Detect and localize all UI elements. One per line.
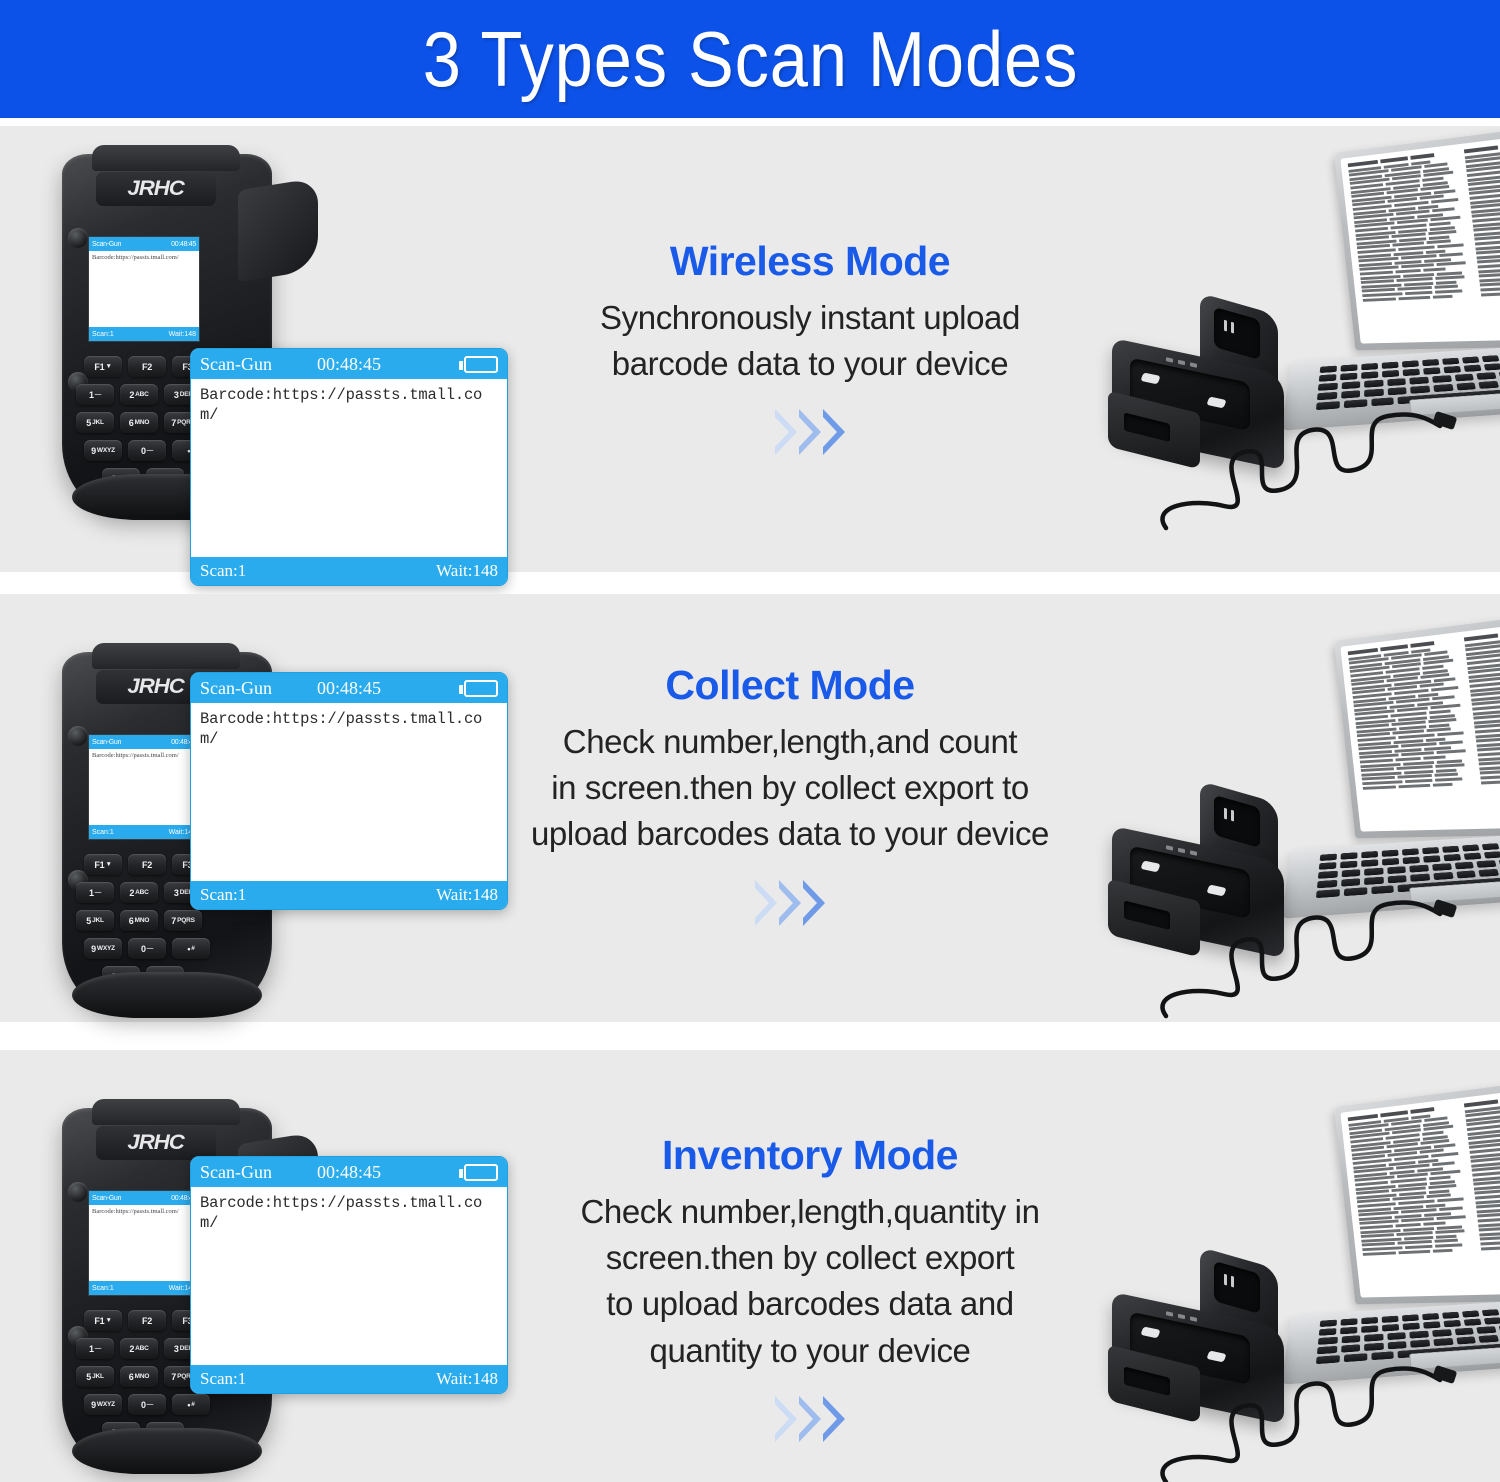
keyboard-key[interactable] <box>1382 850 1399 857</box>
key-sub: # <box>191 1401 194 1408</box>
keypad-row: 9WXYZ0—•# <box>76 1394 262 1415</box>
keyboard-key[interactable] <box>1364 877 1383 885</box>
key-sub: PQRS <box>177 917 195 924</box>
spreadsheet-cell <box>1405 1245 1432 1249</box>
spreadsheet-cell <box>1398 295 1430 299</box>
keyboard-key[interactable] <box>1454 1328 1474 1336</box>
keyboard-key[interactable] <box>1316 889 1340 898</box>
keyboard-key[interactable] <box>1479 869 1499 877</box>
keyboard-key[interactable] <box>1433 872 1453 880</box>
key-main: 0 <box>141 944 146 954</box>
charging-cradle <box>1108 792 1298 962</box>
battery-indicator <box>464 1164 498 1181</box>
infographic-page: 3 Types Scan Modes JRHCScan-Gun00:48:45B… <box>0 0 1500 1482</box>
spreadsheet-cell <box>1434 773 1459 777</box>
key-0[interactable]: 0— <box>128 938 166 959</box>
keyboard-key[interactable] <box>1433 384 1453 392</box>
keyboard-key[interactable] <box>1464 1319 1482 1326</box>
key-main: 3 <box>174 1344 179 1354</box>
spreadsheet-header-row <box>1464 135 1500 153</box>
device-dock-and-laptop-scene <box>1080 1090 1500 1482</box>
key-main: • <box>187 1400 190 1410</box>
spreadsheet-column <box>1348 151 1474 338</box>
keyboard-key[interactable] <box>1344 1353 1367 1362</box>
spreadsheet-cell <box>1423 267 1445 271</box>
chevron-right-icon <box>775 1396 797 1442</box>
spreadsheet-cell <box>1480 282 1500 287</box>
keyboard-key[interactable] <box>1411 1339 1431 1347</box>
spreadsheet-cell <box>1398 1249 1430 1253</box>
chevron-right-icon <box>775 409 797 455</box>
keyboard-key[interactable] <box>1482 843 1500 850</box>
key-1[interactable]: 1— <box>76 882 114 903</box>
keyboard-key[interactable] <box>1382 1316 1399 1323</box>
key-1[interactable]: 1— <box>76 384 114 405</box>
key-f1[interactable]: F1▼ <box>84 1310 122 1331</box>
keyboard-key[interactable] <box>1340 1327 1357 1335</box>
key-2abc[interactable]: 2ABC <box>120 882 158 903</box>
header-banner: 3 Types Scan Modes <box>0 0 1500 118</box>
key-main: F1 <box>94 1316 104 1326</box>
keyboard-key[interactable] <box>1402 360 1419 367</box>
keyboard-key[interactable] <box>1462 844 1480 851</box>
keyboard-key[interactable] <box>1341 869 1360 877</box>
keyboard-key[interactable] <box>1432 863 1452 871</box>
mini-barcode-text: Barcode:https://passts.tmall.com/ <box>89 749 199 825</box>
spreadsheet-cell <box>1480 770 1500 775</box>
keyboard-key[interactable] <box>1402 848 1419 855</box>
mini-screen-titlebar: Scan-Gun00:48:45 <box>89 735 199 749</box>
keyboard-key[interactable] <box>1456 1336 1476 1344</box>
keyboard-key[interactable] <box>1319 1328 1337 1336</box>
lcd-barcode-text: Barcode:https://passts.tmall.com/ <box>191 703 507 881</box>
keyboard-key[interactable] <box>1318 871 1338 879</box>
spreadsheet-cell <box>1433 782 1453 786</box>
keyboard-key[interactable] <box>1484 851 1500 858</box>
keyboard-key[interactable] <box>1477 860 1497 868</box>
spreadsheet-cell <box>1476 742 1500 747</box>
key-main: 2 <box>129 390 134 400</box>
device-dock-and-laptop-scene <box>1080 136 1500 536</box>
keyboard-key[interactable] <box>1344 887 1367 896</box>
lcd-barcode-text: Barcode:https://passts.tmall.com/ <box>191 379 507 557</box>
keyboard-key[interactable] <box>1402 1314 1419 1321</box>
keyboard-key[interactable] <box>1422 1313 1439 1320</box>
keyboard-key[interactable] <box>1456 870 1476 878</box>
keyboard-key[interactable] <box>1388 1341 1408 1349</box>
keyboard-key[interactable] <box>1388 875 1408 883</box>
key-7pqrs[interactable]: 7PQRS <box>164 910 202 931</box>
laptop <box>1290 624 1500 924</box>
keypad-row: 5JKL6MNO7PQRS <box>76 910 262 931</box>
key-main: 2 <box>129 1344 134 1354</box>
keyboard-key[interactable] <box>1442 358 1459 365</box>
spreadsheet-cell <box>1433 294 1453 298</box>
keyboard-key[interactable] <box>1340 861 1357 869</box>
key-5jkl[interactable]: 5JKL <box>76 1366 114 1387</box>
spreadsheet-cell <box>1433 1248 1453 1252</box>
keyboard-key[interactable] <box>1422 359 1439 366</box>
key-main: 7 <box>171 1372 176 1382</box>
spreadsheet-cell <box>1434 777 1462 781</box>
chevron-right-icon <box>799 1396 821 1442</box>
keyboard-key[interactable] <box>1317 1346 1337 1354</box>
keyboard-key[interactable] <box>1382 362 1399 369</box>
keyboard-key[interactable] <box>1361 859 1378 867</box>
keyboard-key[interactable] <box>1364 389 1383 397</box>
mode-section-collect: JRHCScan-Gun00:48:45Barcode:https://pass… <box>0 594 1500 1022</box>
keyboard-key[interactable] <box>1443 1320 1461 1327</box>
key-sub: — <box>147 1401 153 1408</box>
keyboard-key[interactable] <box>1462 1310 1480 1317</box>
spreadsheet-cell <box>1426 737 1446 741</box>
keyboard-key[interactable] <box>1388 387 1408 395</box>
key-main: 5 <box>86 418 91 428</box>
keyboard-key[interactable] <box>1364 380 1383 388</box>
keyboard-key[interactable] <box>1341 1318 1358 1325</box>
keyboard-key[interactable] <box>1340 373 1357 381</box>
spreadsheet-cell <box>1480 774 1500 779</box>
keyboard-key[interactable] <box>1320 854 1337 861</box>
keyboard-key[interactable] <box>1364 868 1383 876</box>
key-sub: — <box>95 889 101 896</box>
cradle-slot <box>1214 307 1260 360</box>
keyboard-key[interactable] <box>1433 1338 1453 1346</box>
spreadsheet-cell <box>1363 1251 1396 1255</box>
spreadsheet-cell <box>1480 1240 1500 1245</box>
keyboard-key[interactable] <box>1319 374 1337 382</box>
key-main: F2 <box>142 1316 152 1326</box>
key-sub: WXYZ <box>97 945 115 952</box>
keyboard-key[interactable] <box>1403 1323 1420 1331</box>
keyboard-key[interactable] <box>1341 878 1361 886</box>
pin <box>1224 320 1227 332</box>
laptop-base <box>1280 340 1500 431</box>
keyboard-key[interactable] <box>1318 1337 1338 1345</box>
keyboard-key[interactable] <box>1482 1309 1500 1316</box>
keyboard-key[interactable] <box>1371 885 1394 894</box>
keyboard-key[interactable] <box>1423 367 1441 374</box>
keyboard-key[interactable] <box>1361 1317 1378 1324</box>
spreadsheet-header-cell <box>1410 1107 1434 1113</box>
keyboard-key[interactable] <box>1318 383 1338 391</box>
key-main: 5 <box>86 1372 91 1382</box>
key-sub: ABC <box>135 889 148 896</box>
led <box>1178 1314 1185 1319</box>
spreadsheet-cell <box>1426 1203 1446 1207</box>
spreadsheet-header-cell <box>1381 644 1408 651</box>
spreadsheet-cell <box>1479 761 1500 766</box>
keyboard-key[interactable] <box>1387 1332 1406 1340</box>
keyboard-key[interactable] <box>1361 371 1378 379</box>
keyboard-key[interactable] <box>1432 1329 1452 1337</box>
mode-description-line: Synchronously instant upload <box>500 295 1120 341</box>
keyboard-key[interactable] <box>1317 392 1337 400</box>
laptop <box>1290 1090 1500 1390</box>
cradle-front-notch <box>1124 413 1170 442</box>
key-[interactable]: •# <box>172 938 210 959</box>
key-9wxyz[interactable]: 9WXYZ <box>84 440 122 461</box>
keyboard-key[interactable] <box>1320 366 1337 373</box>
chevron-right-icon <box>823 1396 845 1442</box>
key-main: 1 <box>89 888 94 898</box>
keyboard-key[interactable] <box>1382 1324 1399 1332</box>
keyboard-key[interactable] <box>1341 381 1360 389</box>
spreadsheet-column <box>1348 1105 1474 1292</box>
led <box>1166 1311 1173 1316</box>
keyboard-key[interactable] <box>1387 378 1406 386</box>
spreadsheet-cell <box>1363 297 1396 301</box>
keyboard-key[interactable] <box>1443 854 1461 861</box>
mode-title-wireless: Wireless Mode <box>500 238 1120 285</box>
key-main: 2 <box>129 888 134 898</box>
key-1[interactable]: 1— <box>76 1338 114 1359</box>
mode-description-line: screen.then by collect export <box>500 1235 1120 1281</box>
mini-screen-footer: Scan:1Wait:148 <box>89 1281 199 1295</box>
keyboard-key[interactable] <box>1361 851 1378 858</box>
lcd-titlebar: Scan-Gun00:48:45 <box>191 1157 507 1187</box>
key-main: 6 <box>129 1372 134 1382</box>
spreadsheet-cell <box>1436 768 1457 772</box>
keyboard-key[interactable] <box>1479 1335 1499 1343</box>
keyboard-key[interactable] <box>1464 853 1482 860</box>
keyboard-key[interactable] <box>1361 363 1378 370</box>
key-[interactable]: •# <box>172 1394 210 1415</box>
keyboard-key[interactable] <box>1317 880 1337 888</box>
screw-icon <box>68 228 88 248</box>
led <box>1190 1316 1197 1321</box>
key-9wxyz[interactable]: 9WXYZ <box>84 938 122 959</box>
chevron-right-icon <box>799 409 821 455</box>
spreadsheet-cell <box>1481 779 1500 784</box>
key-f2[interactable]: F2 <box>128 1310 166 1331</box>
led <box>1190 850 1197 855</box>
mode-description-line: quantity to your device <box>500 1328 1120 1374</box>
keyboard-key[interactable] <box>1316 1355 1340 1364</box>
led <box>1178 848 1185 853</box>
pin <box>1231 810 1234 822</box>
keyboard-key[interactable] <box>1316 401 1340 410</box>
lcd-scan-count: Scan:1 <box>200 885 246 905</box>
keyboard-key[interactable] <box>1432 375 1452 383</box>
key-main: 9 <box>91 1400 96 1410</box>
mode-text-block: Inventory ModeCheck number,length,quanti… <box>500 1132 1120 1442</box>
mode-title-inventory: Inventory Mode <box>500 1132 1120 1179</box>
scanner-top-notch <box>92 643 240 669</box>
mode-text-block: Wireless ModeSynchronously instant uploa… <box>500 238 1120 455</box>
key-5jkl[interactable]: 5JKL <box>76 412 114 433</box>
keyboard-key[interactable] <box>1344 399 1367 408</box>
keyboard-key[interactable] <box>1410 865 1429 873</box>
spreadsheet-cell <box>1479 1227 1500 1232</box>
keyboard-key[interactable] <box>1411 873 1431 881</box>
keyboard-key[interactable] <box>1454 862 1474 870</box>
spreadsheet-cell <box>1405 291 1432 295</box>
key-sub: ABC <box>135 1345 148 1352</box>
keyboard-key[interactable] <box>1361 1325 1378 1333</box>
keyboard-key[interactable] <box>1456 382 1476 390</box>
keyboard-key[interactable] <box>1422 847 1439 854</box>
spreadsheet-header-cell <box>1381 1110 1408 1117</box>
keyboard-key[interactable] <box>1319 862 1337 870</box>
laptop-base <box>1280 1294 1500 1385</box>
lcd-titlebar: Scan-Gun00:48:45 <box>191 673 507 703</box>
spreadsheet-cell <box>1479 765 1500 770</box>
spreadsheet-column <box>1348 639 1474 826</box>
brand-logo-jrhc: JRHC <box>128 177 184 201</box>
spreadsheet-cell <box>1480 286 1500 291</box>
keyboard-key[interactable] <box>1364 1334 1383 1342</box>
key-0[interactable]: 0— <box>128 1394 166 1415</box>
keyboard-key[interactable] <box>1410 1331 1429 1339</box>
charging-cradle <box>1108 1258 1298 1428</box>
spreadsheet-header-row <box>1464 623 1500 641</box>
key-main: 7 <box>171 418 176 428</box>
spreadsheet-header-row <box>1464 1089 1500 1107</box>
spreadsheet-cell <box>1423 755 1445 759</box>
key-main: 1 <box>89 390 94 400</box>
laptop-lid <box>1334 120 1500 351</box>
key-sub: WXYZ <box>97 447 115 454</box>
keyboard-key[interactable] <box>1442 1312 1459 1319</box>
led <box>1166 845 1173 850</box>
keyboard-key[interactable] <box>1341 1344 1361 1352</box>
spreadsheet-cell <box>1481 291 1500 296</box>
pin <box>1224 1274 1227 1286</box>
keyboard-key[interactable] <box>1382 370 1399 378</box>
spreadsheet-cell <box>1363 785 1396 789</box>
key-main: 3 <box>174 888 179 898</box>
keyboard-key[interactable] <box>1454 374 1474 382</box>
spreadsheet-cell <box>1479 1231 1500 1236</box>
key-5jkl[interactable]: 5JKL <box>76 910 114 931</box>
keyboard-key[interactable] <box>1320 1320 1337 1327</box>
spreadsheet-header-cell <box>1410 153 1434 159</box>
keyboard-key[interactable] <box>1464 365 1482 372</box>
cradle-slot <box>1214 1261 1260 1314</box>
keyboard-key[interactable] <box>1341 390 1361 398</box>
mode-title-collect: Collect Mode <box>480 662 1100 709</box>
key-main: F2 <box>142 860 152 870</box>
key-sub: ▼ <box>105 1317 111 1324</box>
keyboard-key[interactable] <box>1484 363 1500 370</box>
key-f2[interactable]: F2 <box>128 854 166 875</box>
key-main: 9 <box>91 446 96 456</box>
mode-description-line: upload barcodes data to your device <box>480 811 1100 857</box>
key-f1[interactable]: F1▼ <box>84 854 122 875</box>
keyboard-key[interactable] <box>1442 846 1459 853</box>
spreadsheet-cell <box>1434 285 1459 289</box>
key-9wxyz[interactable]: 9WXYZ <box>84 1394 122 1415</box>
key-f1[interactable]: F1▼ <box>84 356 122 377</box>
key-sub: — <box>95 391 101 398</box>
scanner-top-notch <box>92 1099 240 1125</box>
keyboard-key[interactable] <box>1341 852 1358 859</box>
laptop-lid <box>1334 608 1500 839</box>
keyboard-key[interactable] <box>1382 858 1399 866</box>
led <box>1178 360 1185 365</box>
keyboard-key[interactable] <box>1341 364 1358 371</box>
key-main: 7 <box>171 916 176 926</box>
keyboard-key[interactable] <box>1364 1343 1383 1351</box>
chevron-arrows-icon <box>480 880 1100 926</box>
key-sub: MNO <box>135 1373 150 1380</box>
brand-plate: JRHC <box>96 1126 216 1160</box>
key-main: 0 <box>141 1400 146 1410</box>
scanner-base <box>72 1428 262 1474</box>
key-main: F1 <box>94 860 104 870</box>
key-sub: WXYZ <box>97 1401 115 1408</box>
screw-icon <box>68 1182 88 1202</box>
keyboard-key[interactable] <box>1479 381 1499 389</box>
key-2abc[interactable]: 2ABC <box>120 384 158 405</box>
spreadsheet-cell <box>1481 1245 1500 1250</box>
keyboard-key[interactable] <box>1410 377 1429 385</box>
keyboard-key[interactable] <box>1423 855 1441 862</box>
device-mini-screen: Scan-Gun00:48:45Barcode:https://passts.t… <box>88 1190 200 1296</box>
key-f2[interactable]: F2 <box>128 356 166 377</box>
laptop-screen <box>1340 128 1500 344</box>
laptop <box>1290 136 1500 436</box>
spreadsheet-cell <box>1478 1217 1500 1222</box>
keyboard-key[interactable] <box>1411 385 1431 393</box>
keyboard-key[interactable] <box>1403 857 1420 865</box>
lcd-footer: Scan:1Wait:148 <box>191 557 507 585</box>
keyboard-key[interactable] <box>1462 356 1480 363</box>
key-main: 6 <box>129 916 134 926</box>
spreadsheet-cell <box>1434 1239 1459 1243</box>
battery-indicator <box>464 356 498 373</box>
keyboard-key[interactable] <box>1482 355 1500 362</box>
keyboard-key[interactable] <box>1387 866 1406 874</box>
mini-screen-footer: Scan:1Wait:148 <box>89 327 199 341</box>
mode-description-line: barcode data to your device <box>500 341 1120 387</box>
mini-scan-count: Scan:1 <box>92 1285 114 1292</box>
lcd-scan-count: Scan:1 <box>200 561 246 581</box>
keyboard-key[interactable] <box>1443 366 1461 373</box>
spreadsheet-cell <box>1478 751 1500 756</box>
mini-barcode-text: Barcode:https://passts.tmall.com/ <box>89 251 199 327</box>
keyboard-key[interactable] <box>1423 1321 1441 1328</box>
spreadsheet-header-cell <box>1381 156 1408 163</box>
laptop-screen <box>1340 1082 1500 1298</box>
keyboard-key[interactable] <box>1477 1326 1497 1334</box>
keyboard-key[interactable] <box>1371 1351 1394 1360</box>
keyboard-key[interactable] <box>1371 397 1394 406</box>
mini-app-name: Scan-Gun <box>92 739 121 746</box>
keyboard-key[interactable] <box>1477 372 1497 380</box>
chevron-arrows-icon <box>500 1396 1120 1442</box>
mode-description-line: to upload barcodes data and <box>500 1281 1120 1327</box>
key-6mno[interactable]: 6MNO <box>120 910 158 931</box>
chevron-arrows-icon <box>500 409 1120 455</box>
led <box>1166 357 1173 362</box>
mode-section-wireless: JRHCScan-Gun00:48:45Barcode:https://pass… <box>0 126 1500 572</box>
key-2abc[interactable]: 2ABC <box>120 1338 158 1359</box>
key-main: • <box>187 944 190 954</box>
keyboard-key[interactable] <box>1403 369 1420 377</box>
brand-logo-jrhc: JRHC <box>128 675 184 699</box>
key-0[interactable]: 0— <box>128 440 166 461</box>
key-6mno[interactable]: 6MNO <box>120 1366 158 1387</box>
brand-logo-jrhc: JRHC <box>128 1131 184 1155</box>
key-sub: — <box>147 945 153 952</box>
page-title: 3 Types Scan Modes <box>422 14 1078 105</box>
key-6mno[interactable]: 6MNO <box>120 412 158 433</box>
key-main: 6 <box>129 418 134 428</box>
keyboard-key[interactable] <box>1484 1317 1500 1324</box>
keyboard-key[interactable] <box>1341 1335 1360 1343</box>
